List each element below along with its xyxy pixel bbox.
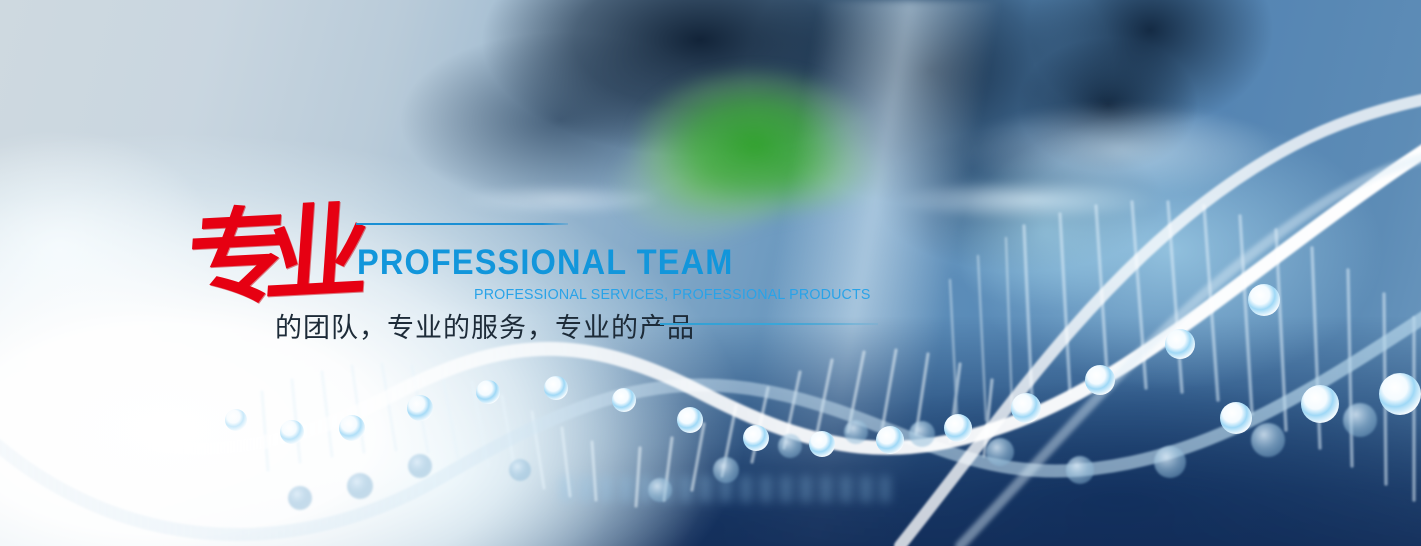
rule-above-headline [356, 223, 568, 225]
banner-chinese-tagline: 的团队，专业的服务，专业的产品 [275, 306, 695, 345]
banner-copy-block: 专业 PROFESSIONAL TEAM PROFESSIONAL SERVIC… [0, 0, 1421, 546]
banner-headline: PROFESSIONAL TEAM [357, 243, 733, 283]
rule-right-of-tagline [660, 323, 878, 325]
hero-banner: 专业 PROFESSIONAL TEAM PROFESSIONAL SERVIC… [0, 0, 1421, 546]
banner-subheadline: PROFESSIONAL SERVICES, PROFESSIONAL PROD… [474, 286, 871, 303]
